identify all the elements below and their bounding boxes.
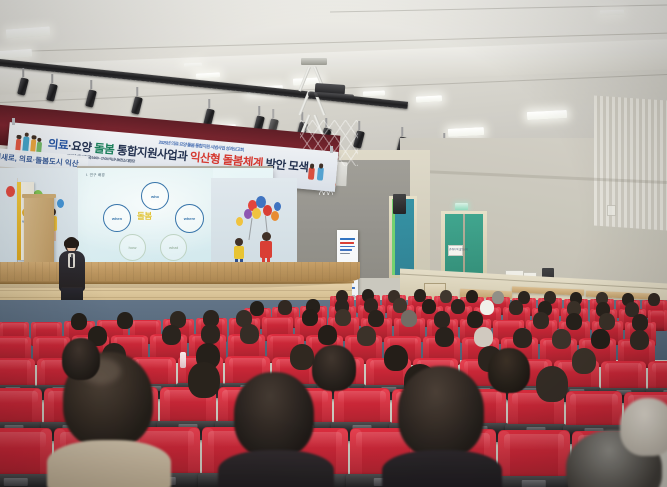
stage-floor-shadow xyxy=(0,262,360,288)
audience-head xyxy=(290,344,314,370)
wall-curtain-panel xyxy=(594,95,667,230)
rollup-line-4 xyxy=(340,253,350,254)
audience-head xyxy=(278,300,292,315)
audience-head xyxy=(599,313,615,330)
mural-balloon-red xyxy=(6,186,15,197)
foreground-person-right-center xyxy=(392,366,492,487)
water-bottle xyxy=(180,352,186,368)
banner-illustration-right xyxy=(306,159,334,183)
audience-head xyxy=(434,311,450,328)
panel-light-11 xyxy=(600,10,624,16)
audience-head xyxy=(451,299,465,314)
mural-balloon-cluster-6 xyxy=(271,211,279,221)
midground-person-2 xyxy=(488,348,532,398)
seat[interactable] xyxy=(0,428,52,487)
rollup-line-3 xyxy=(340,249,352,251)
banner-title-part-5: 과 xyxy=(177,150,191,163)
audience-head xyxy=(533,312,549,329)
audience-head xyxy=(572,348,596,374)
slide-bubble-who: who xyxy=(141,182,169,210)
audience-head xyxy=(335,309,351,326)
mural-balloon-cluster-3 xyxy=(252,208,261,219)
slide-bubble-what: what xyxy=(160,234,187,261)
audience-head xyxy=(201,324,220,344)
audience-head xyxy=(368,310,384,327)
wall-speaker xyxy=(393,194,406,214)
banner-clip-right xyxy=(330,146,333,153)
banner-title-part-3: 돌봄 xyxy=(94,143,115,157)
spotlight-1 xyxy=(46,74,58,102)
audience-head xyxy=(492,291,504,304)
foreground-person-far-right xyxy=(620,398,667,458)
mural-balloon-cluster-8 xyxy=(274,202,281,211)
audience-head xyxy=(440,290,452,303)
auditorium-photo: 2025년 의료·요양 돌봄 통합지원 시범사업 성과보고회 의료·요양 돌봄 … xyxy=(0,0,667,487)
banner-clip-left xyxy=(12,118,15,125)
slide-center-label: 돌봄 xyxy=(137,210,152,222)
mural-balloon-cluster-7 xyxy=(236,217,243,226)
slide-bubble-where: where xyxy=(175,204,204,233)
audience-head xyxy=(357,326,376,346)
audience-head xyxy=(302,309,318,326)
mural-balloon-blue xyxy=(57,199,64,208)
audience-head xyxy=(117,312,133,329)
audience-head xyxy=(591,329,610,349)
slide-header: Ⅰ. 연구 배경 xyxy=(86,173,105,178)
audience-head xyxy=(435,327,454,347)
audience-head xyxy=(71,313,87,330)
audience-head xyxy=(536,366,568,402)
rollup-line-2 xyxy=(340,246,355,248)
midground-person-3 xyxy=(62,338,102,384)
audience-head xyxy=(474,327,493,347)
audience-head xyxy=(513,328,532,348)
midground-person-1 xyxy=(312,345,358,397)
spotlight-2 xyxy=(85,80,97,108)
foreground-person-center xyxy=(228,372,324,487)
audience-head xyxy=(422,299,436,314)
audience-head xyxy=(552,329,571,349)
rollup-heading xyxy=(340,238,355,240)
audience-head xyxy=(401,310,417,327)
audience-head xyxy=(566,313,582,330)
stage-mural-right xyxy=(211,178,297,270)
stage-face-line-1 xyxy=(0,290,352,291)
wall-outlet-right xyxy=(607,205,616,216)
stage-face-line-2 xyxy=(0,297,348,298)
banner-title-part-2: ·요양 xyxy=(67,140,94,154)
audience-head xyxy=(630,330,649,350)
spotlight-11 xyxy=(17,68,29,94)
audience-head xyxy=(250,301,264,316)
audience-head xyxy=(240,324,259,344)
spotlight-3 xyxy=(131,87,143,115)
banner-title-part-1: 의료 xyxy=(47,139,68,153)
audience-head xyxy=(162,325,181,345)
audience-head xyxy=(648,293,660,306)
door-notice-text: 관계자 외 출입금지 xyxy=(449,247,468,251)
audience-head xyxy=(318,325,337,345)
podium-top xyxy=(22,194,56,198)
secondary-banner-text: 시새로, 의료·돌봄도시 익산 xyxy=(0,151,79,169)
audience-head xyxy=(188,362,220,398)
audience-head xyxy=(480,300,494,315)
audience-head xyxy=(466,290,478,303)
slide-bubble-how: how xyxy=(119,234,146,261)
exit-sign xyxy=(455,203,468,210)
slide-bubble-when: when xyxy=(103,204,131,232)
audience-head xyxy=(509,300,523,315)
audience-head xyxy=(467,311,483,328)
audience-head xyxy=(632,314,648,331)
rollup-line-1 xyxy=(340,242,354,244)
